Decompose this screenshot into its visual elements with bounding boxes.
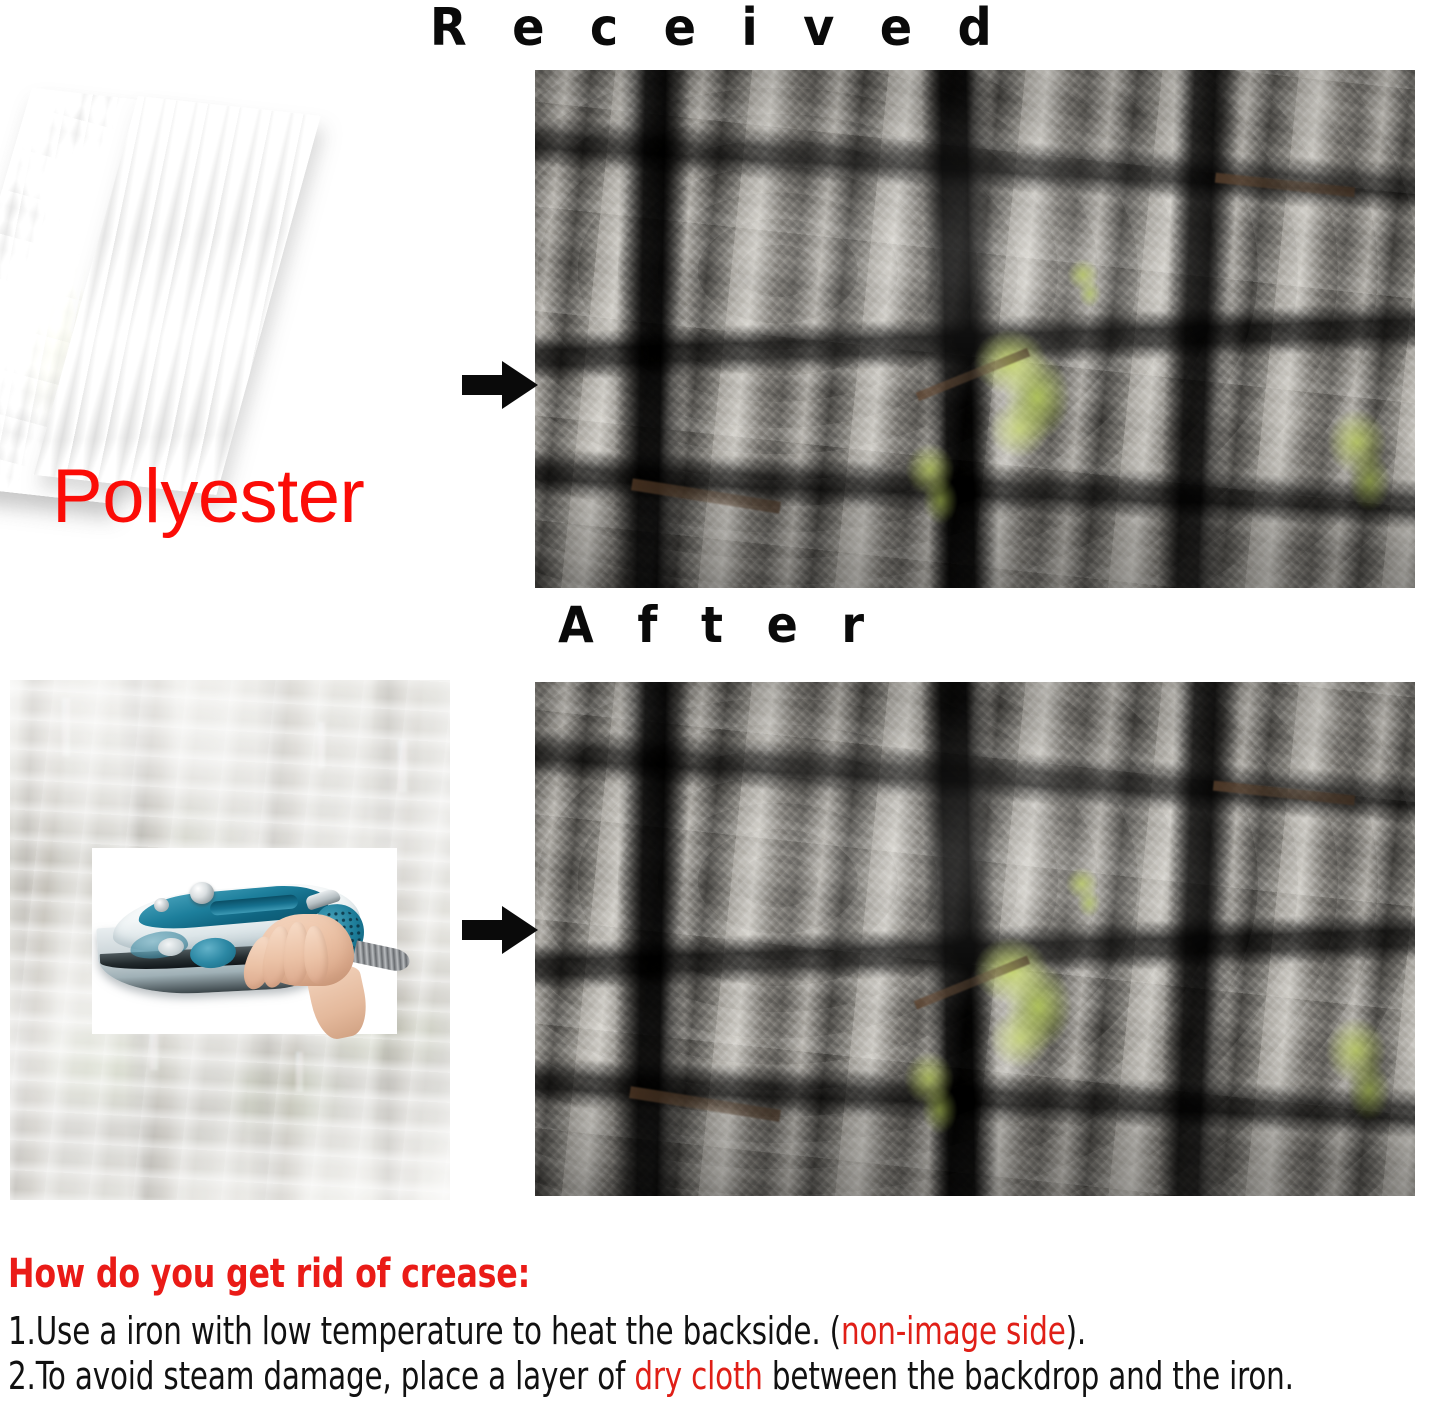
instruction-line-2-prefix: 2.To avoid steam damage, place a layer o… bbox=[8, 1354, 634, 1398]
instructions-block: How do you get rid of crease: 1.Use a ir… bbox=[8, 1252, 1432, 1398]
steam-iron-image bbox=[92, 848, 397, 1034]
instruction-line-2: 2.To avoid steam damage, place a layer o… bbox=[8, 1354, 1233, 1399]
rock-shading bbox=[535, 682, 1415, 1196]
after-heading: A f t e r bbox=[57, 600, 1378, 650]
instruction-line-1-highlight: non-image side bbox=[841, 1309, 1066, 1353]
instruction-line-1: 1.Use a iron with low temperature to hea… bbox=[8, 1309, 1233, 1354]
crease-instructions-heading: How do you get rid of crease: bbox=[8, 1252, 1261, 1297]
instruction-line-1-prefix: 1.Use a iron with low temperature to hea… bbox=[8, 1309, 841, 1353]
rock-shading bbox=[535, 70, 1415, 588]
instruction-line-2-suffix: between the backdrop and the iron. bbox=[763, 1354, 1294, 1398]
right-arrow-icon bbox=[462, 357, 538, 413]
folded-fabric-image bbox=[20, 80, 440, 500]
right-arrow-icon bbox=[462, 902, 538, 958]
after-backdrop-photo bbox=[535, 682, 1415, 1196]
received-heading: R e c e i v e d bbox=[57, 2, 1378, 54]
hand bbox=[238, 914, 364, 1034]
received-backdrop-photo bbox=[535, 70, 1415, 588]
instruction-line-1-suffix: ). bbox=[1066, 1309, 1086, 1353]
instruction-line-2-highlight: dry cloth bbox=[634, 1354, 762, 1398]
polyester-label: Polyester bbox=[52, 459, 364, 535]
